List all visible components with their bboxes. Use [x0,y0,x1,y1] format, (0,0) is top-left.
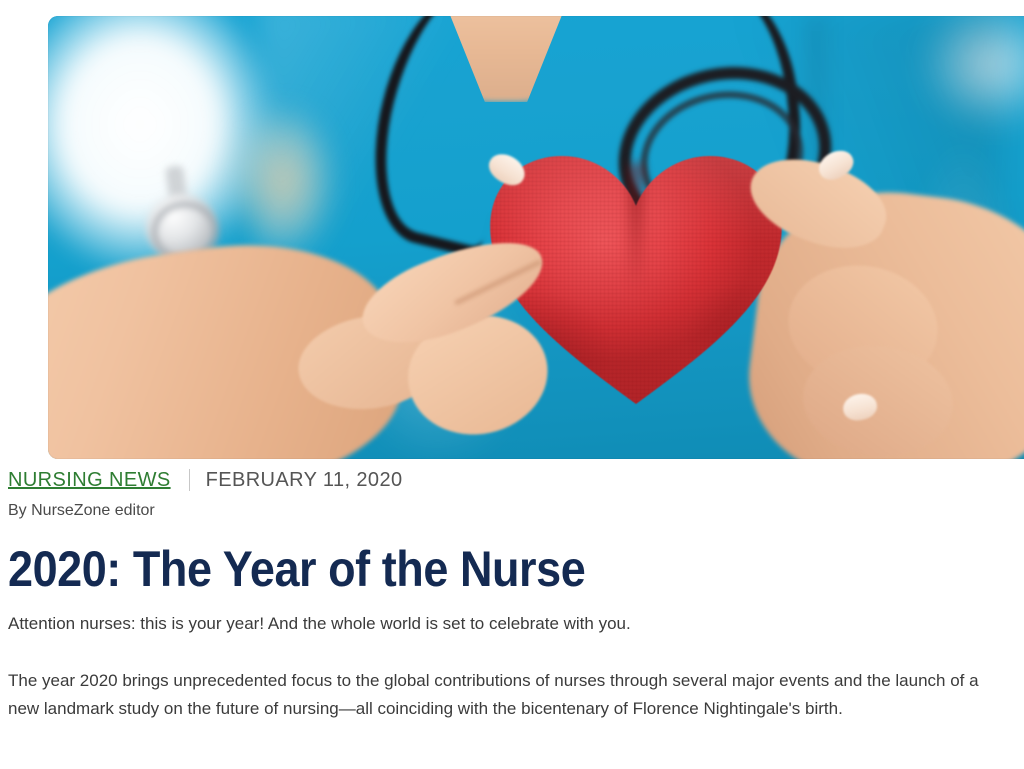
hero-image [48,16,1024,459]
byline: By NurseZone editor [8,500,1012,522]
publish-date: FEBRUARY 11, 2020 [206,468,403,492]
article-page: NURSING NEWS FEBRUARY 11, 2020 By NurseZ… [0,0,1024,769]
article-paragraph: The year 2020 brings unprecedented focus… [8,667,986,723]
heart-cleft [628,162,644,292]
article-body: NURSING NEWS FEBRUARY 11, 2020 By NurseZ… [8,443,1012,723]
article-meta: NURSING NEWS FEBRUARY 11, 2020 [8,468,1012,492]
category-link-nursing-news[interactable]: NURSING NEWS [8,468,171,492]
page-title: 2020: The Year of the Nurse [8,541,912,597]
meta-divider [189,469,190,491]
article-lede: Attention nurses: this is your year! And… [8,611,1012,637]
hero-photo [48,16,1024,459]
